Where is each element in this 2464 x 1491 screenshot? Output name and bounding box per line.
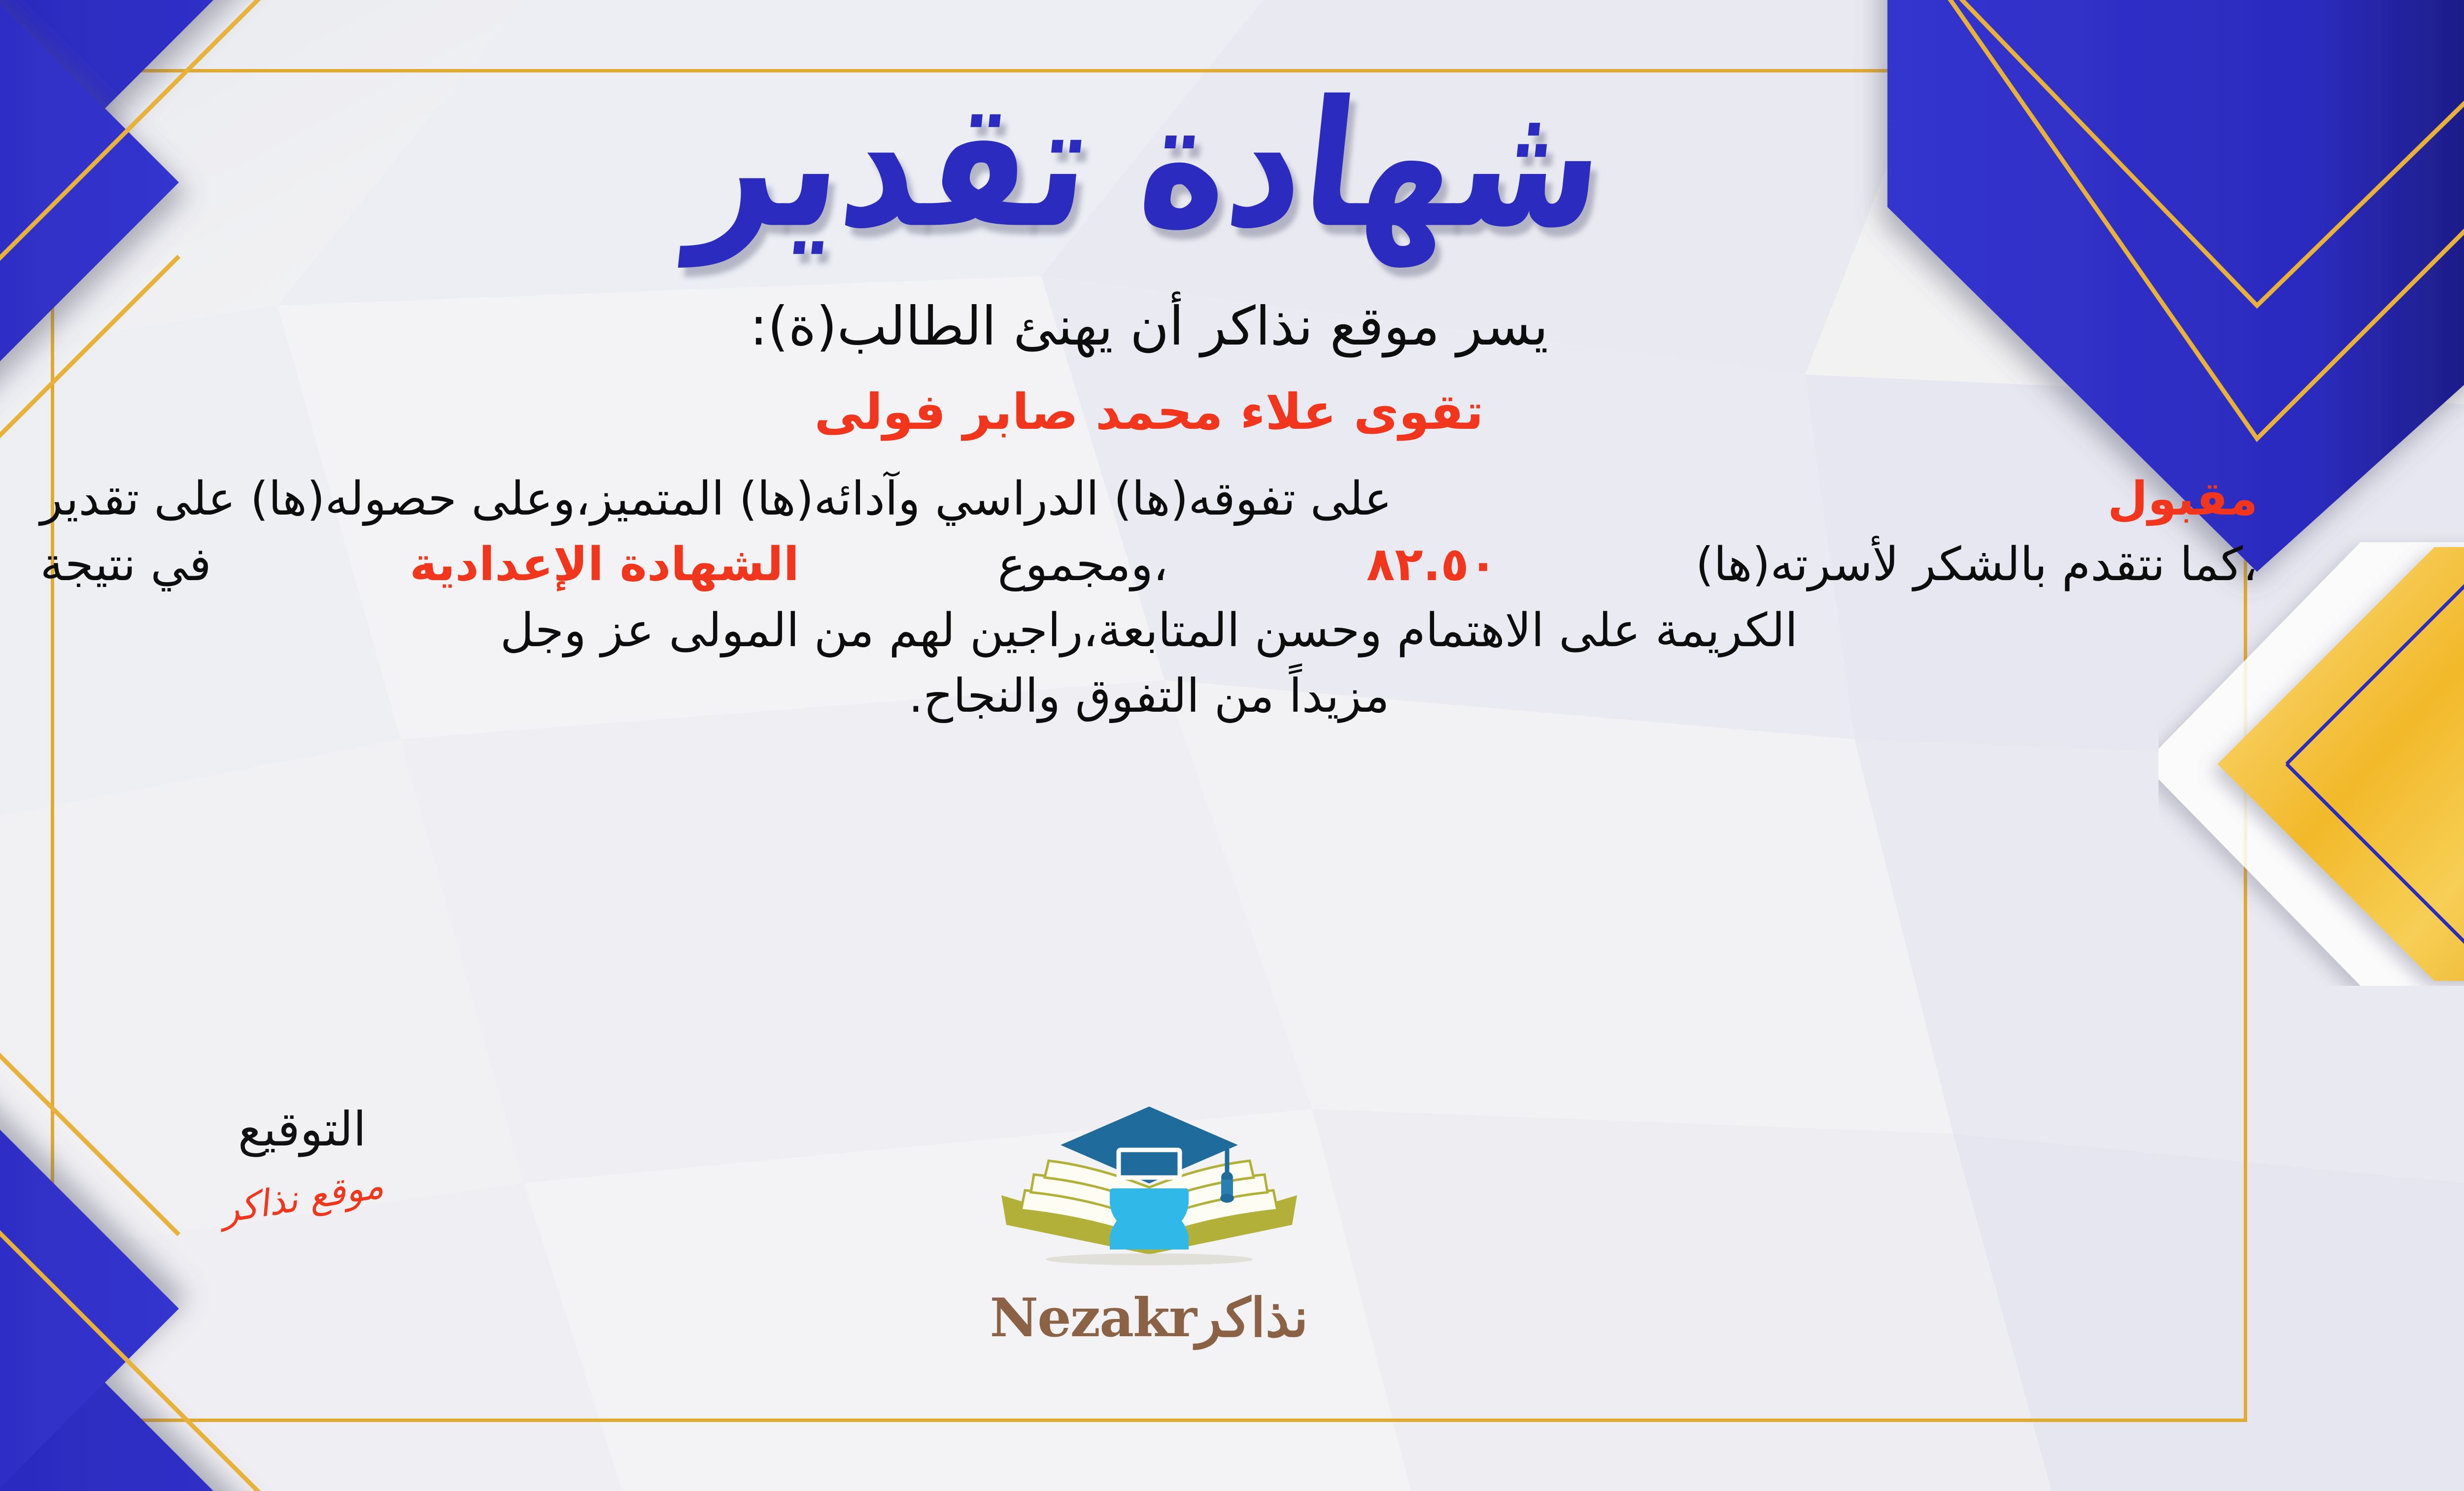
student-name: تقوى علاء محمد صابر فولى: [814, 383, 1483, 441]
intro-line: يسر موقع نذاكر أن يهنئ الطالب(ة):: [750, 296, 1548, 357]
exam-name-value: الشهادة الإعدادية: [410, 532, 799, 597]
citation-line-1-text: على تفوقه(ها) الدراسي وآدائه(ها) المتميز…: [40, 466, 1392, 532]
citation-line-2-head: في نتيجة: [40, 532, 211, 597]
signature-handwriting: موقع نذاكر: [218, 1164, 386, 1232]
citation-paragraph: مقبول على تفوقه(ها) الدراسي وآدائه(ها) ا…: [40, 466, 2258, 729]
citation-line-3-text: الكريمة على الاهتمام وحسن المتابعة،راجين…: [500, 598, 1798, 663]
citation-row-3: الكريمة على الاهتمام وحسن المتابعة،راجين…: [40, 598, 2258, 663]
citation-line-2-mid: ،ومجموع: [997, 532, 1168, 597]
signature-block: التوقيع موقع نذاكر: [149, 1102, 455, 1219]
page-title: شهادة تقدير: [686, 78, 1612, 252]
certificate-content: شهادة تقدير يسر موقع نذاكر أن يهنئ الطال…: [0, 0, 2464, 1491]
grade-value: مقبول: [2108, 466, 2258, 532]
signature-label: التوقيع: [149, 1102, 455, 1157]
citation-row-2: ،كما نتقدم بالشكر لأسرته(ها) ٨٢.٥٠ ،ومجم…: [40, 532, 2258, 597]
person-silhouette-icon: [1110, 1188, 1189, 1249]
citation-row-4: مزيداً من التفوق والنجاح.: [40, 663, 2258, 729]
citation-row-1: مقبول على تفوقه(ها) الدراسي وآدائه(ها) ا…: [40, 466, 2258, 532]
certificate-page: شهادة تقدير يسر موقع نذاكر أن يهنئ الطال…: [0, 0, 2464, 1491]
logo-wordmark: نذاكرNezakr: [962, 1287, 1336, 1349]
logo-illustration-svg: [962, 1092, 1336, 1284]
brand-logo: نذاكرNezakr: [962, 1092, 1336, 1349]
citation-line-4-text: مزيداً من التفوق والنجاح.: [909, 663, 1390, 729]
citation-line-2-tail: ،كما نتقدم بالشكر لأسرته(ها): [1696, 532, 2258, 597]
logo-wordmark-latin: Nezakr: [990, 1287, 1196, 1349]
logo-wordmark-arabic: نذاكر: [1196, 1287, 1308, 1349]
certificate-title-wrap: شهادة تقدير: [0, 59, 2464, 271]
certificate-footer: التوقيع موقع نذاكر: [0, 1102, 2464, 1407]
total-score-value: ٨٢.٥٠: [1367, 532, 1497, 597]
logo-mark: [962, 1092, 1336, 1284]
